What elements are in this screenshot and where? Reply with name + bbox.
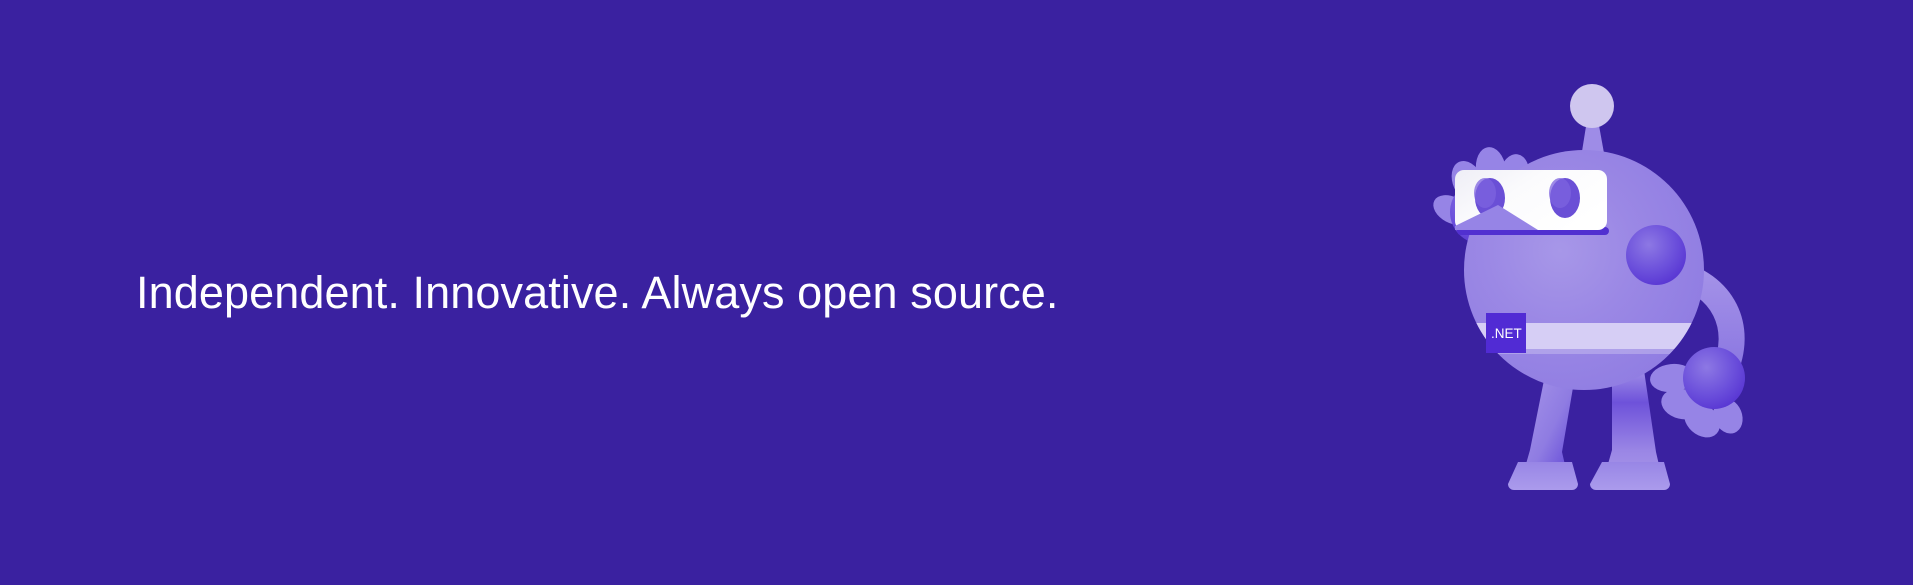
right-eye-highlight <box>1549 178 1571 208</box>
visor-face <box>1455 170 1607 230</box>
page-title: Independent. Innovative. Always open sou… <box>136 268 1059 318</box>
dotnet-badge: .NET <box>1486 313 1526 353</box>
tagline-container: Independent. Innovative. Always open sou… <box>136 0 1059 585</box>
right-hand <box>1649 347 1748 445</box>
badge-label: .NET <box>1491 326 1522 341</box>
right-foot <box>1590 462 1670 490</box>
shoulder-ball <box>1626 225 1686 285</box>
dotnet-bot-mascot: .NET <box>1372 60 1792 520</box>
left-eye-highlight <box>1474 178 1496 208</box>
left-foot <box>1508 462 1578 490</box>
antenna-ball <box>1570 84 1614 128</box>
hero-banner: Independent. Innovative. Always open sou… <box>0 0 1913 585</box>
